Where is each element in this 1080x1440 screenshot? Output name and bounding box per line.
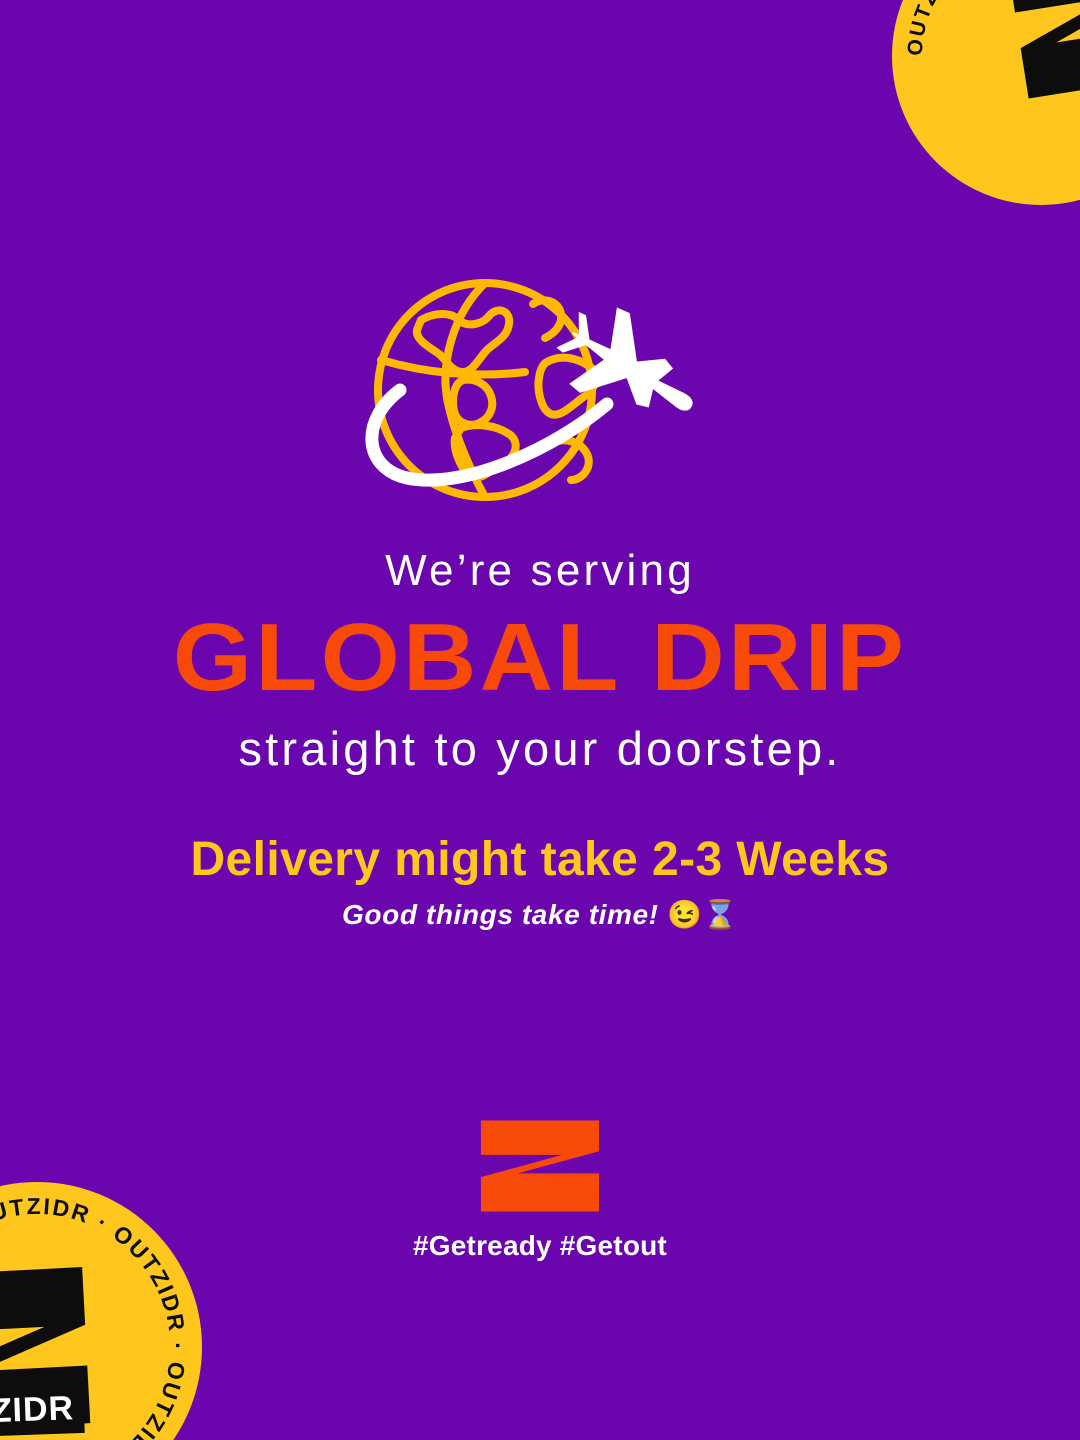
reassurance-label: Good things take time! — [342, 899, 659, 930]
globe-airplane-icon — [355, 268, 725, 513]
outzidr-wordmark: OUTZIDR — [0, 1385, 85, 1439]
footer-block: #Getready #Getout — [0, 1118, 1080, 1262]
globe-continent-north — [417, 310, 509, 372]
copy-block: We’re serving GLOBAL DRIP straight to yo… — [0, 548, 1080, 929]
eyebrow-text: We’re serving — [0, 548, 1080, 594]
reassurance-text: Good things take time! 😉⌛ — [0, 900, 1080, 929]
hashtags-text: #Getready #Getout — [0, 1230, 1080, 1262]
wordmark-part-after: IDR — [12, 1389, 75, 1429]
subheadline-text: straight to your doorstep. — [0, 724, 1080, 773]
promo-poster: OUTZIDR · OUTZIDR · OUTZIDR · OUTZIDR · … — [0, 0, 1080, 1440]
headline-text: GLOBAL DRIP — [0, 606, 1080, 710]
outzidr-badge-top-right: OUTZIDR · OUTZIDR · OUTZIDR · OUTZIDR · — [892, 0, 1080, 205]
delivery-note-text: Delivery might take 2-3 Weeks — [0, 835, 1080, 885]
airplane-icon — [543, 290, 717, 447]
globe-continent-west — [453, 380, 492, 425]
wordmark-part-z: Z — [0, 1393, 13, 1428]
z-logo-mark-footer — [477, 1118, 603, 1214]
wink-hourglass-emoji: 😉⌛ — [667, 899, 738, 930]
